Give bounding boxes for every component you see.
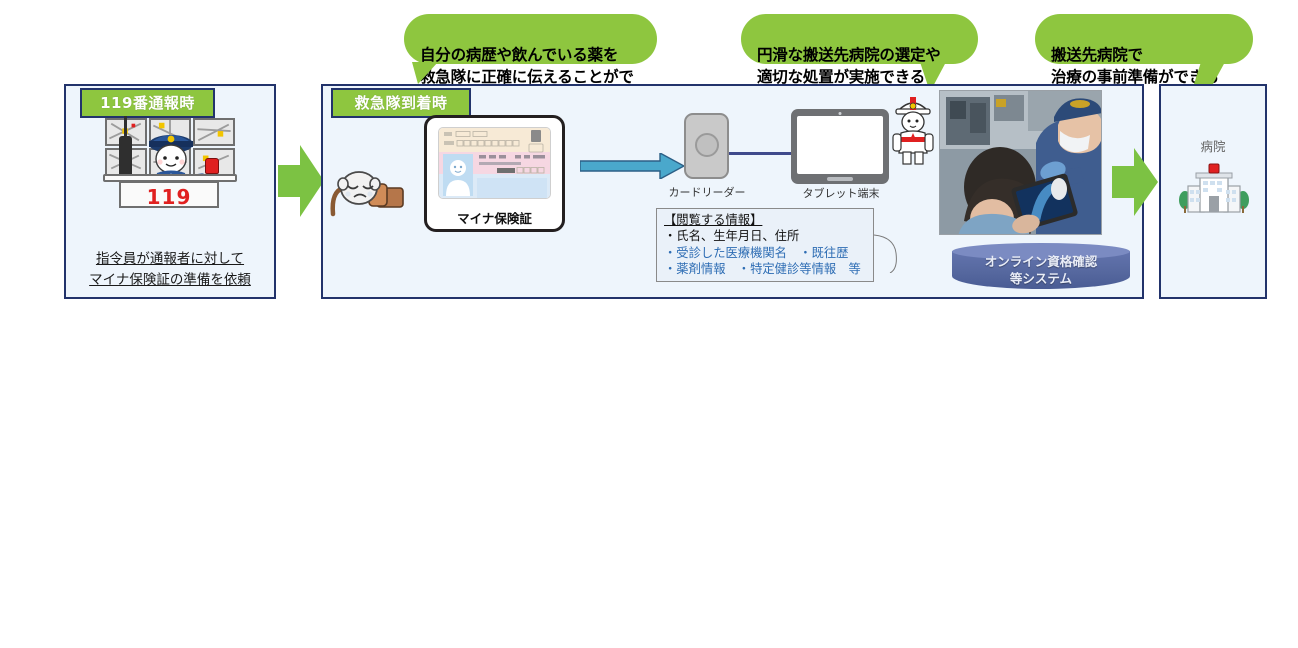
alarm-light-icon: [205, 158, 219, 174]
radio-antenna-icon: [124, 116, 127, 138]
panel-119-title-text: 119番通報時: [100, 94, 195, 112]
tablet-camera-icon: [839, 112, 842, 115]
card-label: マイナ保険証: [427, 208, 562, 227]
online-verification-system-icon: オンライン資格確認 等システム: [952, 243, 1130, 293]
paramedic-tablet-photo: [939, 90, 1102, 235]
tablet-screen: [797, 116, 883, 174]
paramedic-character-icon: [892, 93, 934, 165]
card-reader-knob: [695, 133, 719, 157]
hospital-building-icon: [1178, 162, 1250, 214]
system-connector-curve: [874, 225, 910, 273]
dispatcher-console-icon: 119: [105, 118, 235, 208]
console-desk-front: 119: [119, 181, 219, 208]
panel-119-caption-text: 指令員が通報者に対して マイナ保険証の準備を依頼: [89, 251, 251, 288]
info-box-line-1: ・氏名、生年月日、住所: [664, 228, 867, 244]
callout-bubble-2: 円滑な搬送先病院の選定や 適切な処置が実施できる: [741, 14, 978, 64]
hospital-label: 病院: [1159, 136, 1267, 155]
panel-119-title: 119番通報時: [80, 88, 215, 118]
tablet-device-icon: [791, 109, 889, 184]
card-reader-icon: [684, 113, 729, 179]
callout-bubble-3: 搬送先病院で 治療の事前準備ができる: [1035, 14, 1253, 64]
arrow-card-to-reader: [580, 153, 684, 179]
tablet-label: タブレット端末: [795, 185, 887, 201]
my-number-insurance-card-icon: マイナ保険証: [424, 115, 565, 232]
elderly-patient-icon: [325, 160, 415, 218]
card-reader-label: カードリーダー: [660, 184, 754, 200]
reader-tablet-cable: [729, 152, 793, 155]
panel-119-caption: 指令員が通報者に対して マイナ保険証の準備を依頼: [66, 228, 274, 291]
online-verification-system-label: オンライン資格確認 等システム: [952, 254, 1130, 288]
arrow-arrival-to-hospital: [1112, 148, 1158, 216]
console-number-119: 119: [121, 185, 217, 209]
info-box-line-3: ・薬剤情報 ・特定健診等情報 等: [664, 261, 867, 277]
viewable-information-box: 【閲覧する情報】 ・氏名、生年月日、住所 ・受診した医療機関名 ・既往歴 ・薬剤…: [656, 208, 874, 282]
info-box-header: 【閲覧する情報】: [664, 212, 867, 228]
diagram-canvas: 自分の病歴や飲んでいる薬を 救急隊に正確に伝えることができる 円滑な搬送先病院の…: [0, 0, 1298, 648]
arrow-call-to-arrival: [278, 145, 324, 217]
callout-bubble-1: 自分の病歴や飲んでいる薬を 救急隊に正確に伝えることができる: [404, 14, 657, 64]
panel-arrival-title-text: 救急隊到着時: [354, 94, 447, 112]
tablet-home-button: [827, 177, 853, 181]
callout-2-text: 円滑な搬送先病院の選定や 適切な処置が実施できる: [757, 46, 941, 86]
card-face: [438, 127, 551, 199]
info-box-line-2: ・受診した医療機関名 ・既往歴: [664, 245, 867, 261]
panel-arrival-title: 救急隊到着時: [331, 88, 471, 118]
callout-1-tail: [412, 62, 452, 84]
